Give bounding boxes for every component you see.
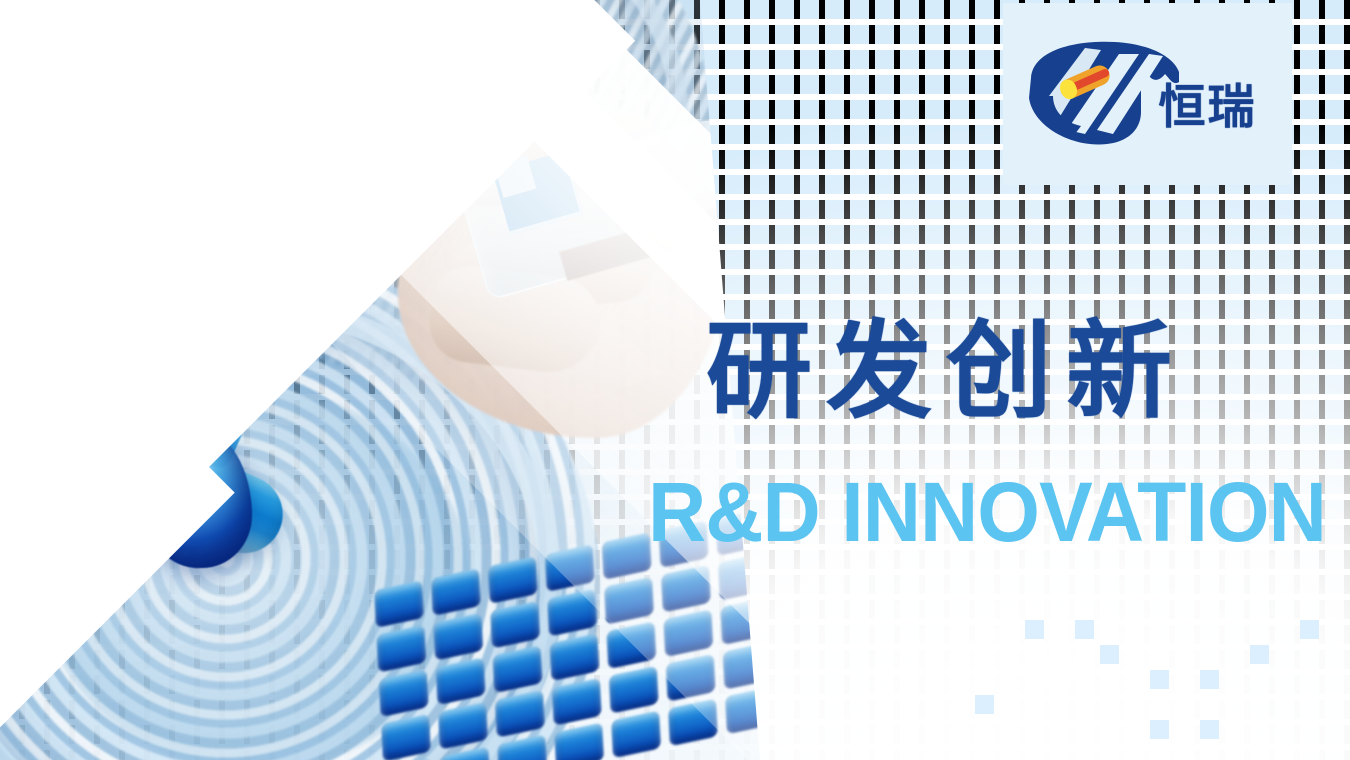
laboratory-photo-collage	[0, 0, 790, 760]
logo-inner: 恒瑞	[1023, 34, 1273, 154]
pattern-square-accent	[1200, 720, 1219, 739]
brand-name-cn: 恒瑞	[1159, 68, 1257, 137]
banner-root: 研发创新 R&D INNOVATION 恒瑞	[0, 0, 1350, 760]
pattern-square-accent	[1100, 645, 1119, 664]
page-title-en: R&D INNOVATION	[648, 464, 1326, 561]
pattern-square-accent	[1300, 620, 1319, 639]
pattern-square-accent	[975, 695, 994, 714]
pattern-square-accent	[1250, 645, 1269, 664]
pattern-square-accent	[1025, 620, 1044, 639]
headline-block: 研发创新 R&D INNOVATION	[706, 318, 1306, 426]
pattern-square-accent	[1150, 670, 1169, 689]
pattern-square-accent	[1075, 620, 1094, 639]
page-title-cn: 研发创新	[706, 318, 1306, 426]
brand-logo-panel[interactable]: 恒瑞	[1003, 3, 1292, 185]
pattern-square-accent	[1200, 670, 1219, 689]
pattern-square-accent	[1150, 720, 1169, 739]
